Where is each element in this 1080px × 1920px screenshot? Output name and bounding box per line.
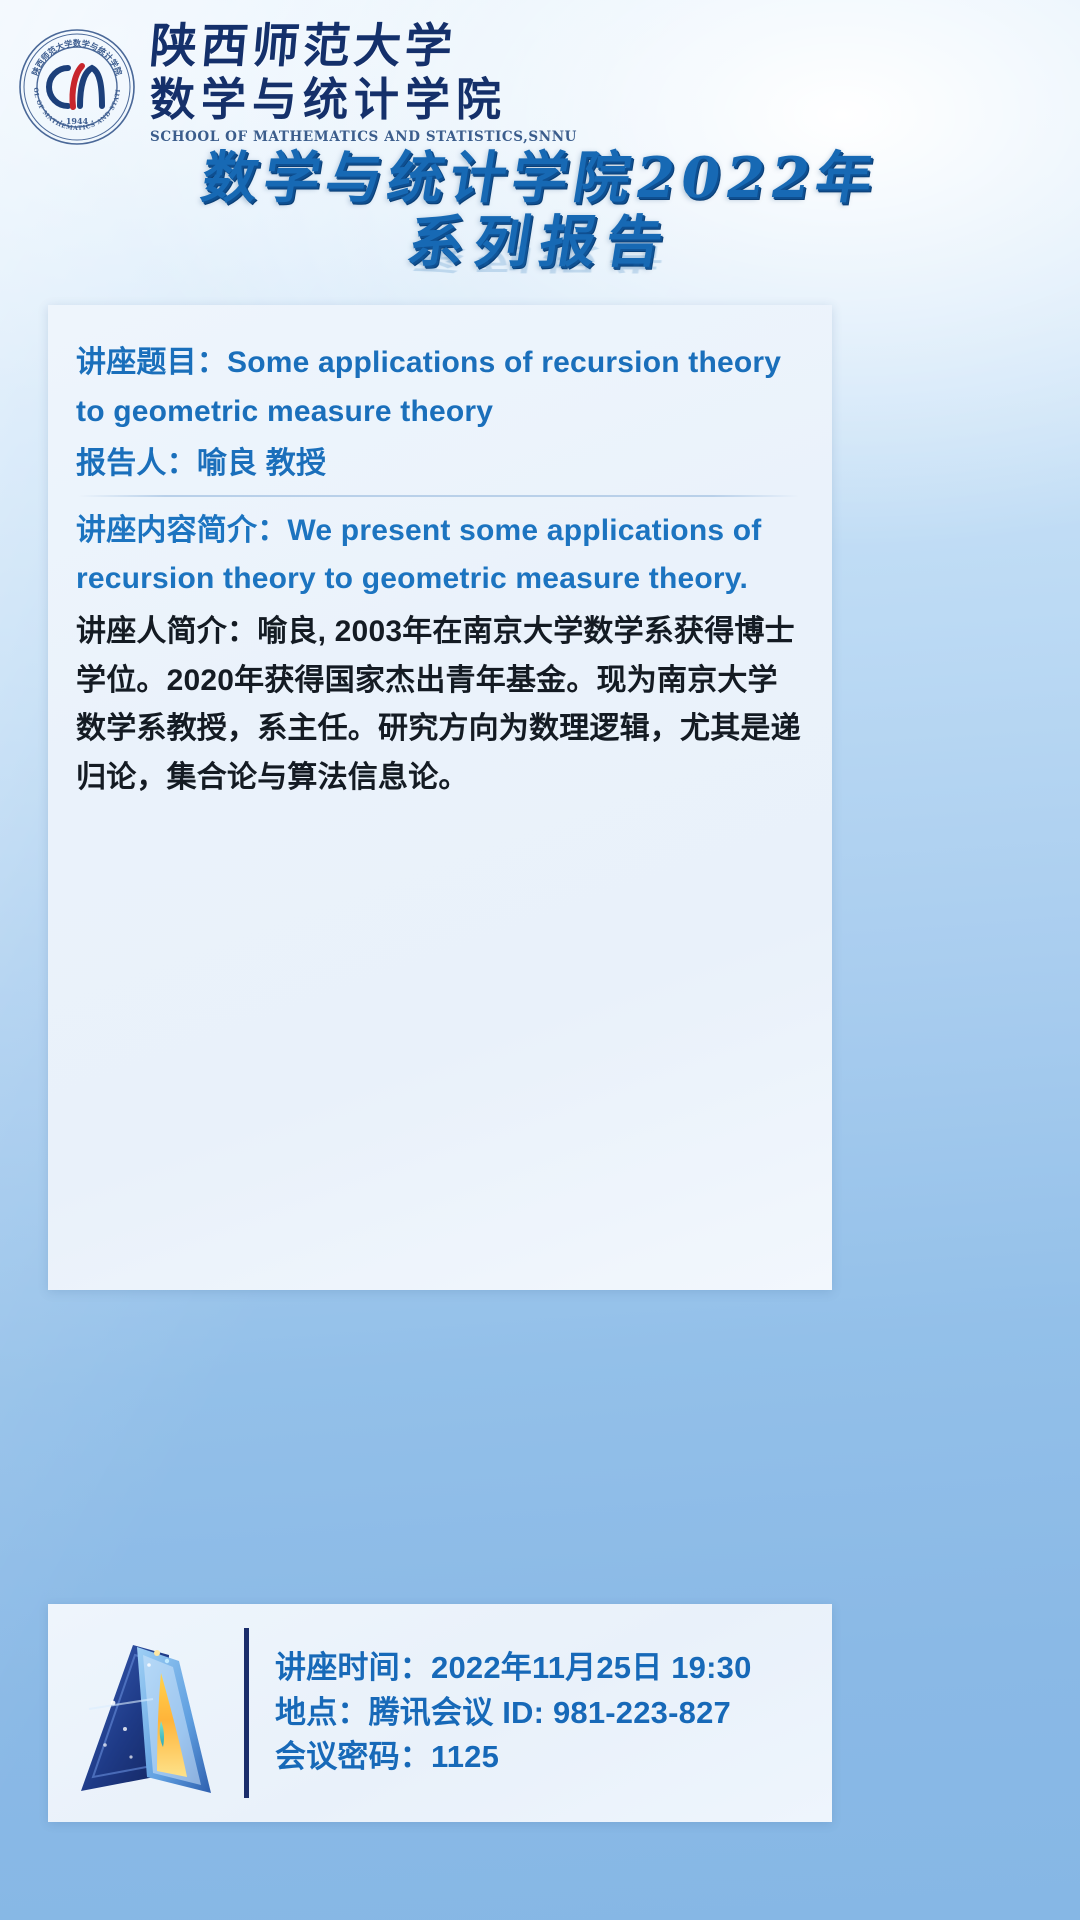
lecture-topic-value-cont: to geometric measure theory: [76, 388, 802, 437]
lecture-password-row: 会议密码：1125: [275, 1735, 818, 1780]
lecture-topic-value: Some applications of recursion theory: [227, 346, 781, 379]
lecture-place-value: 腾讯会议 ID: 981-223-827: [369, 1695, 731, 1730]
vertical-divider: [244, 1628, 249, 1798]
lecture-password-label: 会议密码：: [275, 1739, 431, 1774]
poster-title-reflection: 系列报告: [0, 245, 1080, 274]
lecture-time-label: 讲座时间：: [275, 1650, 431, 1685]
lecture-meta-lines: 讲座时间：2022年11月25日 19:30 地点：腾讯会议 ID: 981-2…: [275, 1646, 832, 1781]
school-name-cn: 数学与统计学院: [150, 75, 570, 125]
university-name-block: 陕西师范大学 数学与统计学院 SCHOOL OF MATHEMATICS AND…: [150, 22, 570, 145]
speaker-row: 报告人：喻良 教授: [76, 440, 802, 489]
speaker-label: 报告人：: [76, 447, 197, 480]
lecture-password-value: 1125: [431, 1739, 499, 1774]
lecture-time-value: 2022年11月25日 19:30: [431, 1650, 752, 1685]
abstract-label: 讲座内容简介：: [76, 514, 287, 547]
divider: [78, 495, 800, 497]
lecture-time-row: 讲座时间：2022年11月25日 19:30: [275, 1646, 818, 1691]
lecture-info-card: 讲座题目：Some applications of recursion theo…: [48, 305, 832, 1290]
open-book-lamp-icon: [48, 1618, 244, 1808]
bio-row: 讲座人简介：喻良, 2003年在南京大学数学系获得博士学位。2020年获得国家杰…: [76, 608, 802, 802]
lecture-place-label: 地点：: [275, 1695, 369, 1730]
school-name-en: SCHOOL OF MATHEMATICS AND STATISTICS,SNN…: [150, 129, 570, 145]
bio-label: 讲座人简介：: [76, 615, 257, 648]
svg-text:· 1944 ·: · 1944 ·: [60, 116, 94, 126]
poster-title-line1: 数学与统计学院2022年: [0, 150, 1080, 208]
poster-title: 数学与统计学院2022年 系列报告 系列报告: [0, 150, 1080, 331]
lecture-meta-card: 讲座时间：2022年11月25日 19:30 地点：腾讯会议 ID: 981-2…: [48, 1604, 832, 1822]
abstract-row: 讲座内容简介：We present some applications of r…: [76, 507, 802, 604]
poster-root: 陕西师范大学数学与统计学院 SCHOOL OF MATHEMATICS AND …: [0, 0, 1080, 1920]
university-name-cn: 陕西师范大学: [148, 22, 572, 71]
lecture-topic-label: 讲座题目：: [76, 346, 227, 379]
lecture-topic-row: 讲座题目：Some applications of recursion theo…: [76, 339, 802, 436]
school-emblem-icon: 陕西师范大学数学与统计学院 SCHOOL OF MATHEMATICS AND …: [18, 28, 136, 146]
lecture-place-row: 地点：腾讯会议 ID: 981-223-827: [275, 1691, 818, 1736]
speaker-value: 喻良 教授: [197, 447, 326, 480]
